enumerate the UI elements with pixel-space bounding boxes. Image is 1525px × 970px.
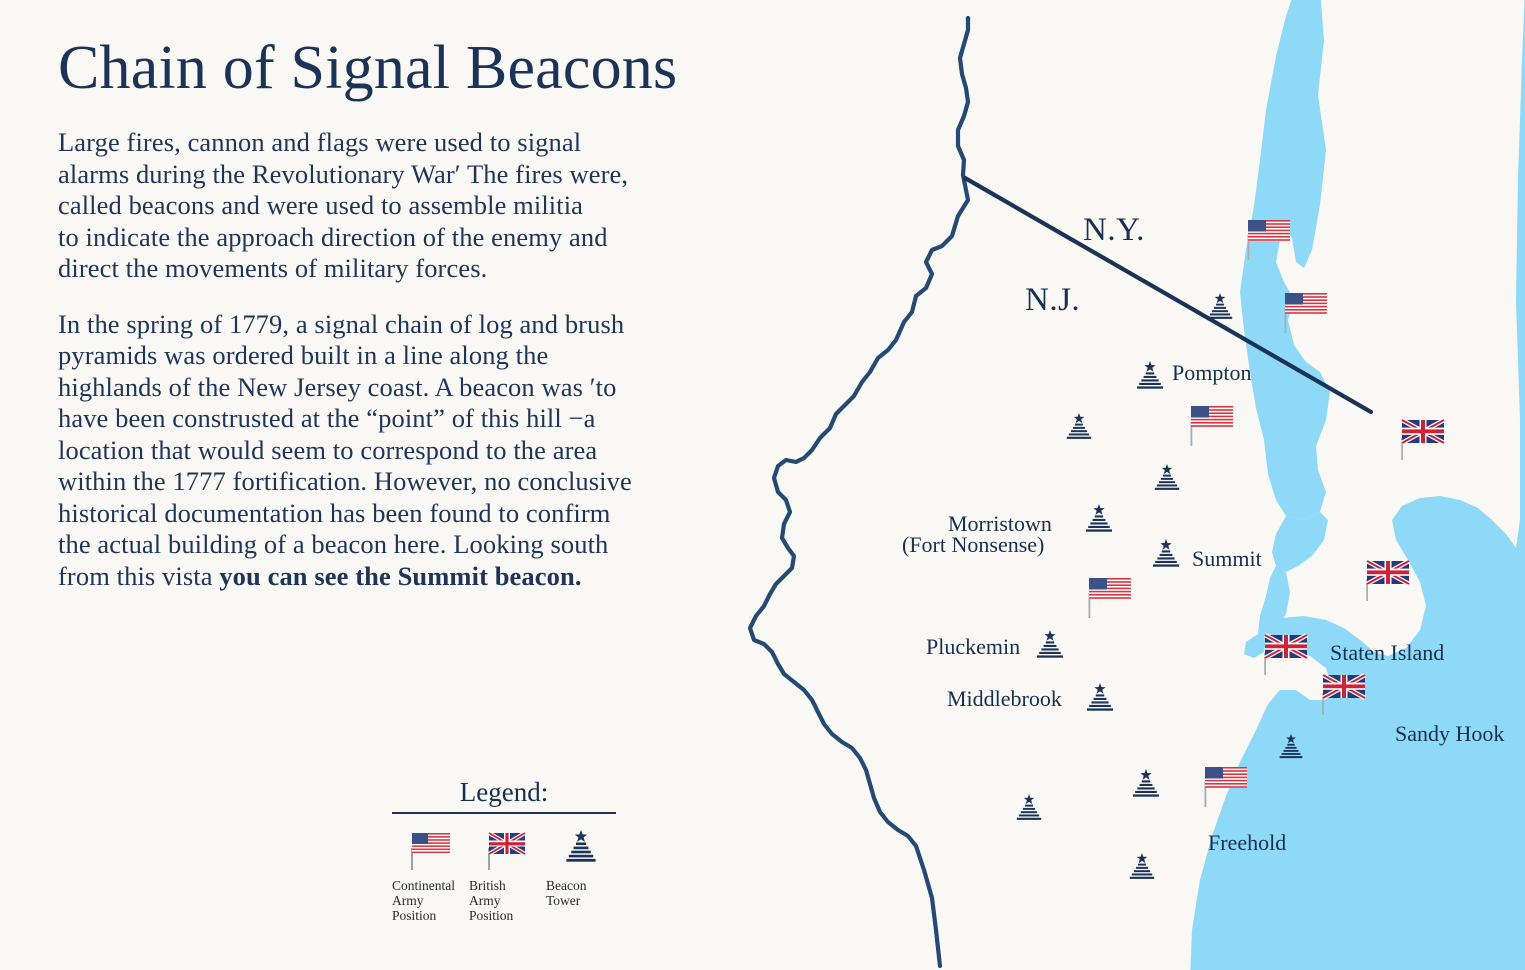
page-title: Chain of Signal Beacons (58, 36, 758, 101)
beacon-tower-marker (1150, 538, 1182, 579)
beacon-tower-marker (1152, 463, 1182, 502)
pompton-label: Pompton (1172, 361, 1251, 384)
continental-army-marker (1203, 765, 1249, 812)
ny-label: N.Y. (1083, 213, 1145, 248)
legend-label: British Army Position (469, 878, 539, 923)
middlebrook-label: Middlebrook (947, 687, 1062, 710)
water-layer (1190, 0, 1525, 970)
legend-title: Legend: (392, 779, 616, 812)
beacon-tower-marker (1083, 503, 1115, 544)
beacon-tower-marker (1277, 733, 1305, 770)
freehold-label: Freehold (1208, 831, 1286, 854)
legend-item-continental-army: Continental Army Position (392, 826, 462, 923)
summit-label: Summit (1192, 547, 1262, 570)
beacon-tower-marker (1064, 412, 1094, 451)
british-army-marker (1320, 673, 1368, 720)
history-paragraph-text: In the spring of 1779, a signal chain of… (58, 309, 632, 591)
map-base-graphic (720, 0, 1525, 970)
us-flag-icon (392, 826, 462, 870)
legend-item-beacon-tower: Beacon Tower (546, 826, 616, 908)
beacon-tower-marker (1127, 852, 1157, 891)
beacon-tower-icon (546, 826, 616, 870)
legend-label: Continental Army Position (392, 878, 462, 923)
legend: Legend: (392, 779, 616, 923)
legend-label: Beacon Tower (546, 878, 616, 908)
continental-army-marker (1087, 576, 1133, 623)
beacon-tower-marker (1134, 360, 1166, 401)
beacon-tower-marker (1130, 768, 1162, 809)
legend-divider (392, 812, 616, 814)
map-region: N.Y.N.J.PomptonMorristown(Fort Nonsense)… (720, 0, 1525, 970)
beacon-tower-marker (1034, 629, 1066, 670)
pluckemin-label: Pluckemin (926, 635, 1020, 658)
sandy-hook-label: Sandy Hook (1395, 722, 1504, 745)
text-column: Chain of Signal Beacons Large fires, can… (58, 36, 758, 616)
interpretive-panel: Chain of Signal Beacons Large fires, can… (0, 0, 1525, 970)
delaware-river-border (750, 175, 968, 966)
legend-item-british-army: British Army Position (469, 826, 539, 923)
nj-label: N.J. (1025, 283, 1080, 318)
british-army-marker (1364, 559, 1412, 606)
staten-island-label: Staten Island (1330, 641, 1444, 664)
continental-army-marker (1283, 291, 1329, 338)
beacon-tower-marker (1084, 682, 1116, 723)
british-army-marker (1399, 418, 1447, 465)
fort-nonsense-label: (Fort Nonsense) (902, 533, 1044, 556)
continental-army-marker (1189, 404, 1235, 451)
continental-army-marker (1246, 218, 1292, 265)
north-jersey-border (958, 18, 968, 175)
history-paragraph: In the spring of 1779, a signal chain of… (58, 309, 758, 593)
union-jack-icon (469, 826, 539, 870)
beacon-tower-marker (1205, 292, 1235, 331)
beacon-tower-marker (1014, 793, 1044, 832)
british-army-marker (1262, 633, 1310, 680)
legend-items: Continental Army Position (392, 826, 616, 923)
history-paragraph-emphasis: you can see the Summit beacon. (219, 561, 581, 591)
intro-paragraph: Large fires, cannon and flags were used … (58, 127, 758, 285)
